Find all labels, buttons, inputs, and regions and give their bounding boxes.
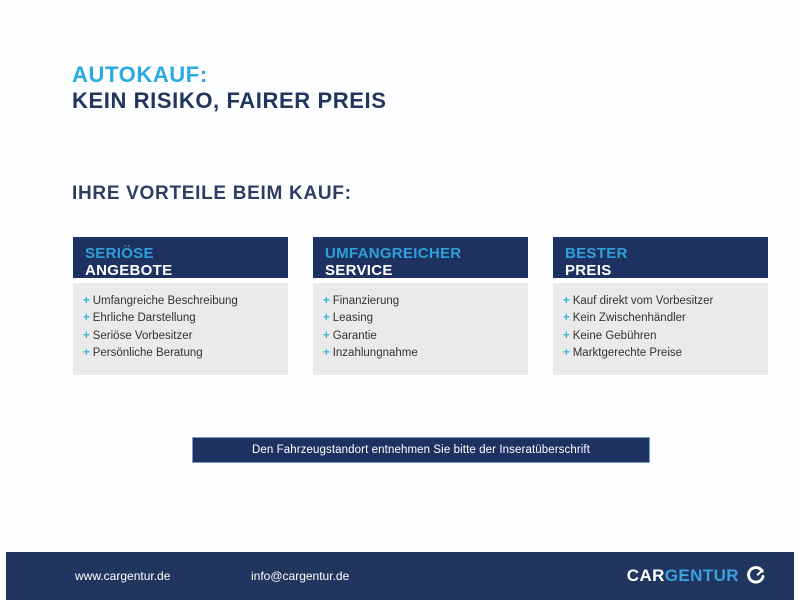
card-body: +Umfangreiche Beschreibung +Ehrliche Dar…	[73, 283, 288, 375]
card-header: SERIÖSE ANGEBOTE	[73, 237, 288, 278]
list-item-label: Umfangreiche Beschreibung	[93, 295, 238, 307]
list-item: +Seriöse Vorbesitzer	[83, 328, 278, 345]
plus-icon: +	[323, 295, 330, 307]
list-item: +Leasing	[323, 310, 518, 327]
logo-text-car: CAR	[627, 566, 665, 585]
benefit-card-umfangreicher-service: UMFANGREICHER SERVICE +Finanzierung +Lea…	[313, 237, 528, 375]
c-speedometer-icon	[746, 566, 766, 586]
footer-email-link[interactable]: info@cargentur.de	[251, 569, 349, 583]
headline-line-2: KEIN RISIKO, FAIRER PREIS	[72, 88, 387, 114]
plus-icon: +	[83, 330, 90, 342]
plus-icon: +	[563, 330, 570, 342]
list-item-label: Leasing	[333, 312, 373, 324]
card-header-bottom: PREIS	[565, 263, 756, 280]
plus-icon: +	[83, 295, 90, 307]
plus-icon: +	[323, 347, 330, 359]
list-item-label: Garantie	[333, 330, 377, 342]
list-item-label: Seriöse Vorbesitzer	[93, 330, 193, 342]
benefit-card-serioese-angebote: SERIÖSE ANGEBOTE +Umfangreiche Beschreib…	[73, 237, 288, 375]
card-header: BESTER PREIS	[553, 237, 768, 278]
list-item: +Garantie	[323, 328, 518, 345]
footer-website-link[interactable]: www.cargentur.de	[75, 569, 170, 583]
benefit-card-bester-preis: BESTER PREIS +Kauf direkt vom Vorbesitze…	[553, 237, 768, 375]
headline-line-1: AUTOKAUF:	[72, 62, 387, 88]
list-item-label: Kein Zwischenhändler	[573, 312, 686, 324]
list-item: +Keine Gebühren	[563, 328, 758, 345]
list-item-label: Keine Gebühren	[573, 330, 657, 342]
list-item: +Ehrliche Darstellung	[83, 310, 278, 327]
plus-icon: +	[323, 330, 330, 342]
footer-bar: www.cargentur.de info@cargentur.de CARGE…	[6, 552, 794, 600]
plus-icon: +	[563, 312, 570, 324]
page-headline: AUTOKAUF: KEIN RISIKO, FAIRER PREIS	[72, 62, 387, 114]
list-item: +Inzahlungnahme	[323, 345, 518, 362]
plus-icon: +	[83, 347, 90, 359]
card-header-bottom: SERVICE	[325, 263, 516, 280]
list-item: +Umfangreiche Beschreibung	[83, 293, 278, 310]
list-item-label: Inzahlungnahme	[333, 347, 418, 359]
location-notice-banner: Den Fahrzeugstandort entnehmen Sie bitte…	[192, 437, 650, 463]
card-body: +Kauf direkt vom Vorbesitzer +Kein Zwisc…	[553, 283, 768, 375]
plus-icon: +	[563, 295, 570, 307]
list-item-label: Ehrliche Darstellung	[93, 312, 196, 324]
list-item-label: Marktgerechte Preise	[573, 347, 682, 359]
list-item: +Marktgerechte Preise	[563, 345, 758, 362]
logo-text: CARGENTUR	[627, 566, 739, 586]
list-item-label: Persönliche Beratung	[93, 347, 203, 359]
list-item: +Kein Zwischenhändler	[563, 310, 758, 327]
card-header-top: UMFANGREICHER	[325, 246, 516, 263]
card-body: +Finanzierung +Leasing +Garantie +Inzahl…	[313, 283, 528, 375]
list-item: +Persönliche Beratung	[83, 345, 278, 362]
plus-icon: +	[563, 347, 570, 359]
card-header-top: BESTER	[565, 246, 756, 263]
list-item: +Finanzierung	[323, 293, 518, 310]
list-item-label: Finanzierung	[333, 295, 399, 307]
benefit-cards-container: SERIÖSE ANGEBOTE +Umfangreiche Beschreib…	[73, 237, 770, 375]
plus-icon: +	[323, 312, 330, 324]
cargentur-logo: CARGENTUR	[627, 566, 766, 586]
list-item-label: Kauf direkt vom Vorbesitzer	[573, 295, 714, 307]
card-header-bottom: ANGEBOTE	[85, 263, 276, 280]
plus-icon: +	[83, 312, 90, 324]
card-header-top: SERIÖSE	[85, 246, 276, 263]
card-header: UMFANGREICHER SERVICE	[313, 237, 528, 278]
notice-text: Den Fahrzeugstandort entnehmen Sie bitte…	[252, 444, 590, 456]
flyer-page: AUTOKAUF: KEIN RISIKO, FAIRER PREIS IHRE…	[0, 0, 800, 600]
logo-text-gentur: GENTUR	[665, 566, 739, 585]
list-item: +Kauf direkt vom Vorbesitzer	[563, 293, 758, 310]
section-title: IHRE VORTEILE BEIM KAUF:	[72, 183, 352, 205]
